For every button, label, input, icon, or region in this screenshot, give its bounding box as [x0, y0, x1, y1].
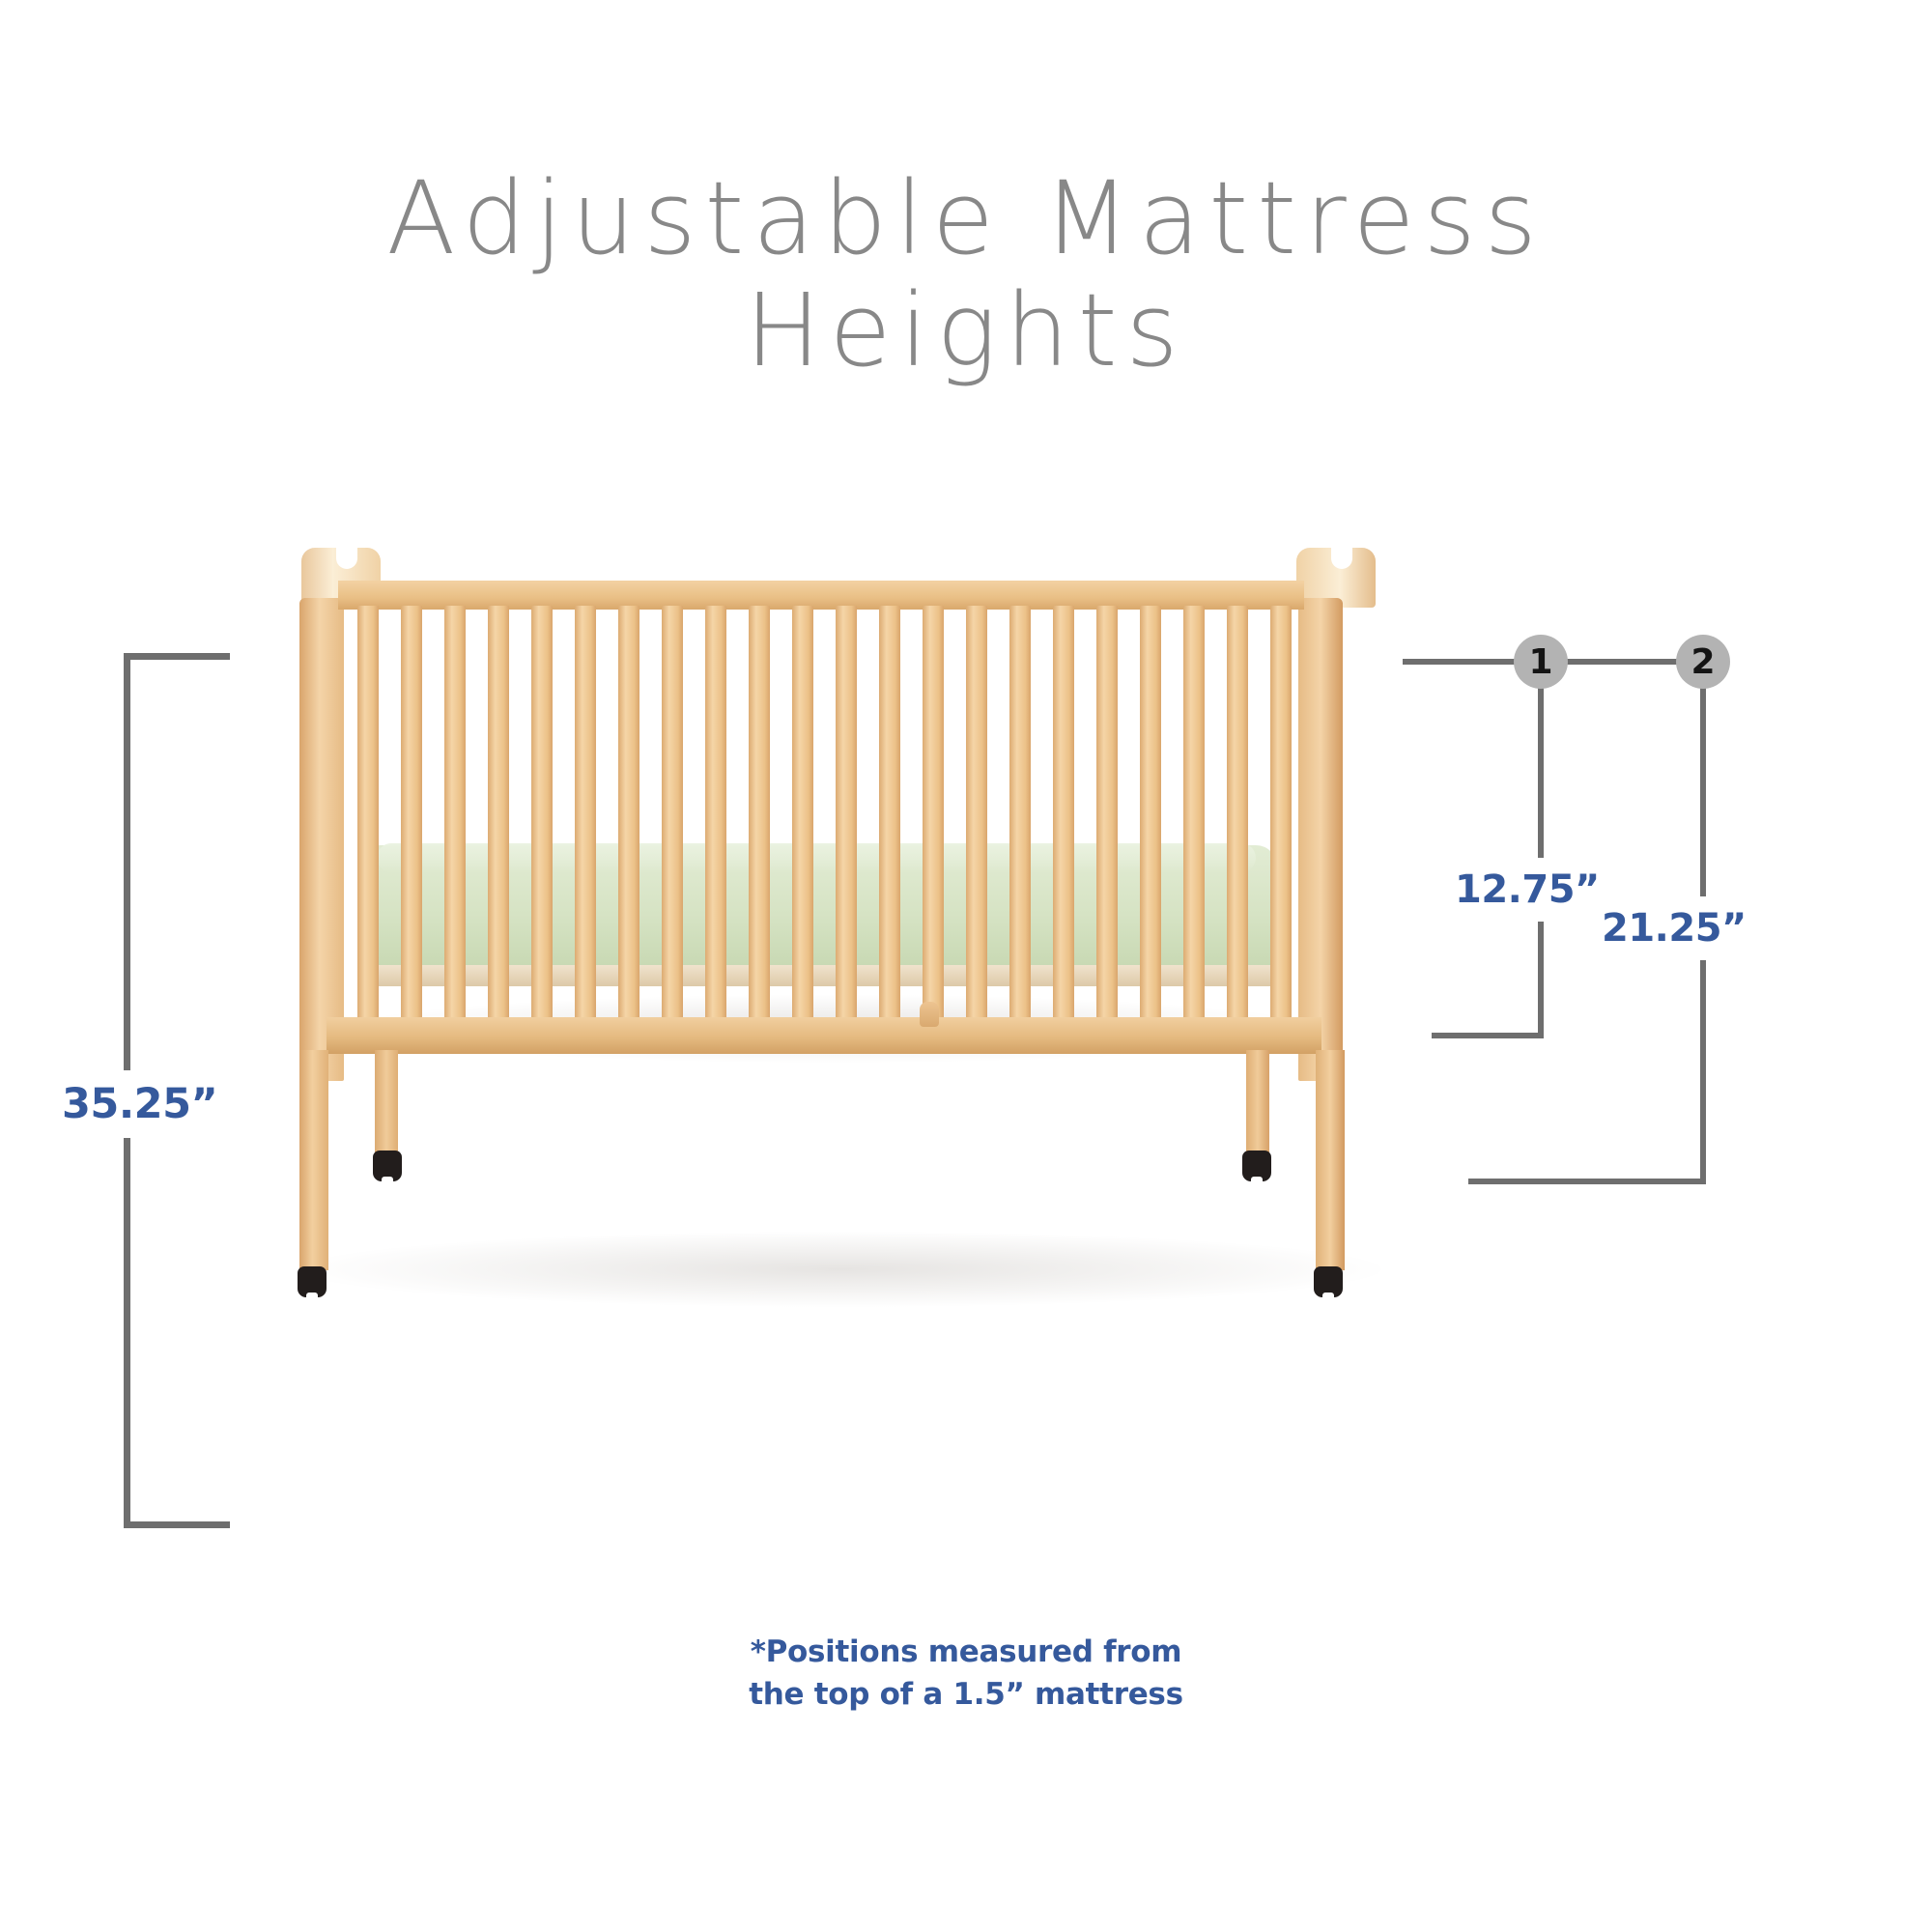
- bottom-rail: [327, 1017, 1321, 1054]
- leg-back-right: [1246, 1050, 1269, 1154]
- crib-slat-front: [1096, 836, 1118, 1023]
- crib-slat-front: [1183, 836, 1205, 1023]
- infographic-canvas: Adjustable Mattress Heights: [0, 0, 1932, 1932]
- page-title: Adjustable Mattress Heights: [0, 162, 1932, 387]
- badge-position-2: 2: [1676, 635, 1730, 689]
- crib-slat-front: [792, 836, 813, 1023]
- dimension-2-foot: [1468, 1179, 1706, 1184]
- crib-slat-front: [531, 836, 553, 1023]
- crib-slat-front: [1227, 836, 1248, 1023]
- leg-front-left: [299, 1050, 328, 1270]
- crib-slat-front: [488, 836, 509, 1023]
- crib-slat-front: [618, 836, 639, 1023]
- badge-1-label: 1: [1528, 642, 1552, 682]
- dimension-left-bottom-tick: [124, 1521, 230, 1528]
- crib-slat-front: [575, 836, 596, 1023]
- crib-slat-front: [705, 836, 726, 1023]
- badge-position-1: 1: [1514, 635, 1568, 689]
- crib-slat-front: [923, 836, 944, 1023]
- footnote-line-2: the top of a 1.5” mattress: [0, 1673, 1932, 1716]
- crib-slat-front: [1140, 836, 1161, 1023]
- crib-slat-front: [401, 836, 422, 1023]
- measurement-label-overall-height: 35.25”: [56, 1070, 223, 1138]
- corner-post-right: [1298, 598, 1343, 1081]
- rail-latch-knob: [920, 1002, 939, 1027]
- title-line-1: Adjustable Mattress: [0, 162, 1932, 274]
- floor-shadow: [299, 1232, 1381, 1307]
- dimension-1-foot: [1432, 1033, 1544, 1038]
- crib-slat-front: [357, 836, 379, 1023]
- crib-slat-front: [836, 836, 857, 1023]
- leg-back-left: [375, 1050, 398, 1154]
- corner-post-left: [299, 598, 344, 1081]
- title-line-2: Heights: [0, 274, 1932, 386]
- crib-slat-front: [879, 836, 900, 1023]
- finial-right-notch: [1331, 548, 1352, 569]
- crib-slat-front: [749, 836, 770, 1023]
- crib-slat-front: [444, 836, 466, 1023]
- measurement-label-position-1: 12.75”: [1447, 858, 1607, 922]
- caster-back-right: [1242, 1151, 1271, 1181]
- dimension-2-leader: [1567, 659, 1681, 665]
- dimension-1-leader: [1403, 659, 1519, 665]
- crib-slat-front: [1009, 836, 1031, 1023]
- dimension-left-top-tick: [124, 653, 230, 660]
- caster-front-right: [1314, 1266, 1343, 1297]
- crib-slat-front: [1270, 836, 1292, 1023]
- footnote: *Positions measured from the top of a 1.…: [0, 1631, 1932, 1716]
- caster-back-left: [373, 1151, 402, 1181]
- crib-slat-front: [662, 836, 683, 1023]
- crib-slat-front: [1053, 836, 1074, 1023]
- crib-slat-front: [966, 836, 987, 1023]
- leg-front-right: [1316, 1050, 1345, 1270]
- measurement-label-position-2: 21.25”: [1594, 896, 1754, 960]
- caster-front-left: [298, 1266, 327, 1297]
- crib-illustration: [319, 555, 1362, 1290]
- badge-2-label: 2: [1690, 642, 1715, 682]
- finial-left-notch: [336, 548, 357, 569]
- footnote-line-1: *Positions measured from: [0, 1631, 1932, 1673]
